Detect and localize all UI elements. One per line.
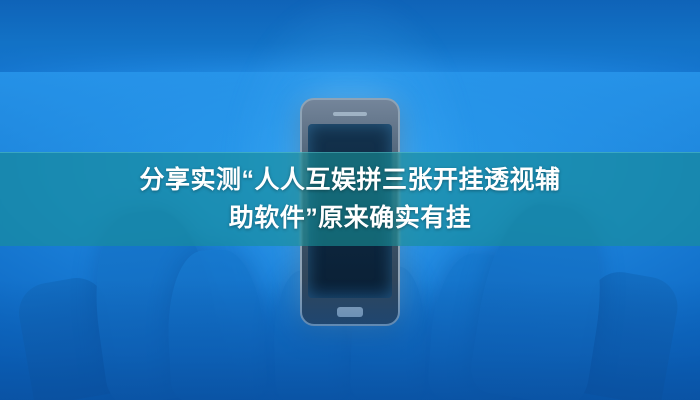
caption-title: 分享实测“人人互娱拼三张开挂透视辅 助软件”原来确实有挂 <box>0 152 700 246</box>
phone-speaker-icon <box>333 112 367 116</box>
background-band-bottom <box>0 280 700 400</box>
image-canvas: 分享实测“人人互娱拼三张开挂透视辅 助软件”原来确实有挂 <box>0 0 700 400</box>
